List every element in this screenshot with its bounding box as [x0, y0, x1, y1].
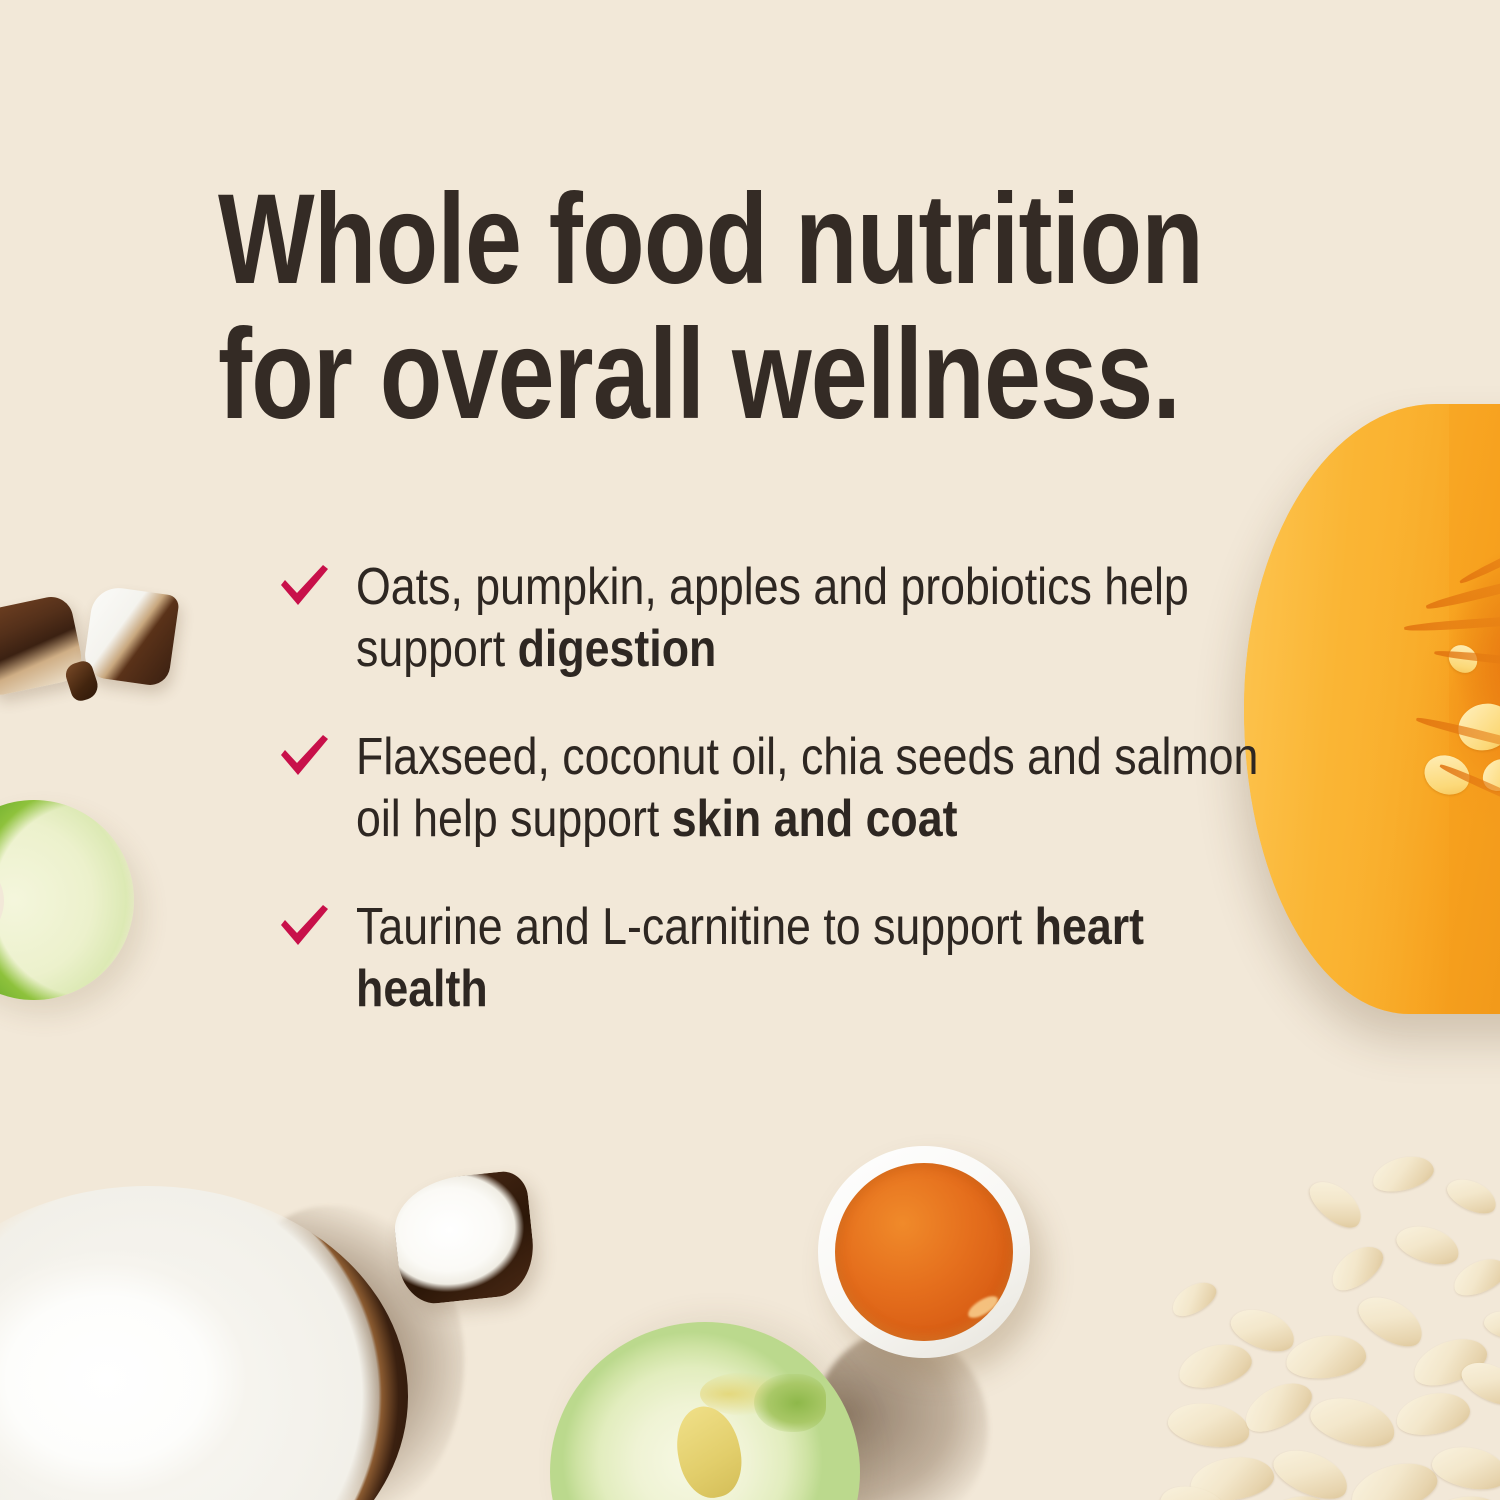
promo-banner: Whole food nutrition for overall wellnes… [0, 0, 1500, 1500]
oat-flake [1369, 1151, 1437, 1197]
oat-flake [1324, 1238, 1390, 1298]
oat-flake [1393, 1388, 1473, 1440]
benefit-lead: Oats, pumpkin, apples and probiotics hel… [356, 558, 1189, 678]
oat-flake [1442, 1172, 1500, 1220]
headline-line-2: for overall wellness. [218, 307, 1114, 442]
oat-flake [1351, 1286, 1431, 1355]
salmon-oil-liquid [835, 1163, 1013, 1341]
apple-stem-well [754, 1374, 826, 1432]
oat-flake [1167, 1276, 1222, 1323]
oat-flake [1303, 1172, 1370, 1235]
salmon-oil-bowl-image [818, 1146, 1030, 1358]
page-title: Whole food nutrition for overall wellnes… [218, 172, 1114, 442]
oat-flake [1306, 1389, 1401, 1455]
oat-flake [1174, 1338, 1255, 1395]
benefit-text: Oats, pumpkin, apples and probiotics hel… [356, 556, 1276, 680]
oat-flake [1346, 1455, 1443, 1500]
oat-flake [1284, 1332, 1368, 1382]
list-item: Taurine and L-carnitine to support heart… [278, 896, 1278, 1020]
benefit-text: Flaxseed, coconut oil, chia seeds and sa… [356, 726, 1276, 850]
coconut-chunk-image [390, 1169, 538, 1307]
apple-half-image [550, 1322, 860, 1500]
oat-flake [1165, 1397, 1253, 1453]
check-icon [278, 734, 330, 780]
pumpkin-half-image [1244, 404, 1500, 1014]
oat-flake [1392, 1219, 1463, 1271]
check-icon [278, 904, 330, 950]
headline-line-1: Whole food nutrition [218, 172, 1114, 307]
benefit-emphasis: skin and coat [672, 790, 958, 848]
oat-flake [1267, 1440, 1355, 1500]
apple-slice-image [0, 800, 134, 1000]
coconut-chunk-image [82, 584, 180, 687]
oat-flake [1482, 1307, 1500, 1343]
benefits-list: Oats, pumpkin, apples and probiotics hel… [278, 556, 1278, 1066]
oat-flake [1429, 1441, 1500, 1496]
benefit-text: Taurine and L-carnitine to support heart… [356, 896, 1276, 1020]
apple-slice-notch [0, 858, 4, 944]
oat-flake [1237, 1373, 1318, 1440]
check-icon [278, 564, 330, 610]
benefit-lead: Taurine and L-carnitine to support [356, 898, 1035, 956]
list-item: Flaxseed, coconut oil, chia seeds and sa… [278, 726, 1278, 850]
rolled-oats-image [1160, 1136, 1500, 1500]
list-item: Oats, pumpkin, apples and probiotics hel… [278, 556, 1278, 680]
benefit-emphasis: digestion [518, 620, 717, 678]
